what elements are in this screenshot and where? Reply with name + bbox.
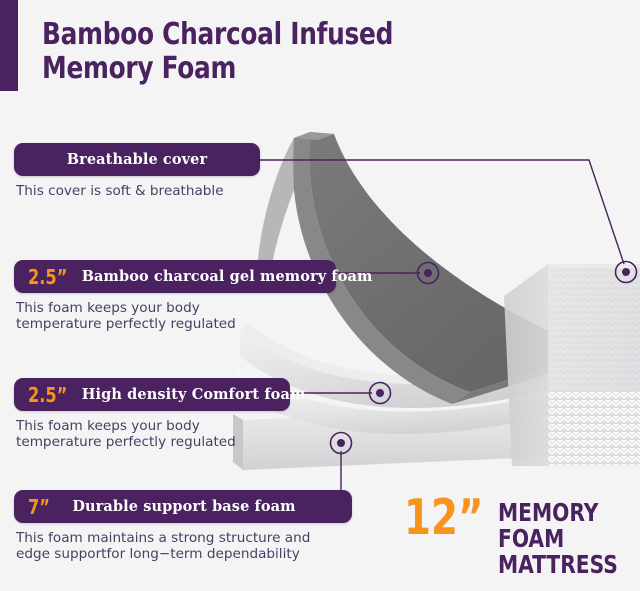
leader-line-breathable-cover [260,160,624,264]
callout-label-breathable-cover: Breathable cover [67,151,207,168]
marker-bamboo-charcoal-gel [418,263,439,284]
callout-durable-support-base: 7” Durable support base foam This foam m… [14,490,354,562]
callout-measure-durable-support-base: 7” [28,495,50,519]
callout-breathable-cover: Breathable cover This cover is soft & br… [14,143,264,199]
callout-pill-high-density-comfort[interactable]: 2.5” High density Comfort foam [14,378,290,411]
product-summary-headline: 12” MEMORY FOAM MATTRESS [404,497,640,578]
marker-high-density-comfort [370,383,391,404]
page-title: Bamboo Charcoal Infused Memory Foam [42,18,512,86]
callout-description-breathable-cover: This cover is soft & breathable [14,183,264,199]
callout-bamboo-charcoal-gel: 2.5” Bamboo charcoal gel memory foam Thi… [14,260,340,332]
product-type-label: MEMORY FOAM MATTRESS [498,497,626,578]
callout-pill-durable-support-base[interactable]: 7” Durable support base foam [14,490,352,523]
callout-high-density-comfort: 2.5” High density Comfort foam This foam… [14,378,294,450]
callout-label-bamboo-charcoal-gel: Bamboo charcoal gel memory foam [82,268,373,285]
page-title-line-1: Bamboo Charcoal Infused [42,18,474,52]
callout-description-durable-support-base: This foam maintains a strong structure a… [14,530,354,562]
mattress-cover-panel [504,264,640,466]
page-title-line-2: Memory Foam [42,52,474,86]
accent-bar [0,0,18,91]
infographic-root: Bamboo Charcoal Infused Memory Foam [0,0,640,591]
callout-measure-high-density-comfort: 2.5” [28,383,67,407]
callout-pill-breathable-cover[interactable]: Breathable cover [14,143,260,176]
callout-label-durable-support-base: Durable support base foam [62,498,295,515]
marker-durable-support-base [331,433,352,454]
product-thickness-value: 12” [404,497,483,539]
callout-measure-bamboo-charcoal-gel: 2.5” [28,265,67,289]
callout-label-high-density-comfort: High density Comfort foam [82,386,306,403]
callout-description-high-density-comfort: This foam keeps your body temperature pe… [14,418,294,450]
callout-pill-bamboo-charcoal-gel[interactable]: 2.5” Bamboo charcoal gel memory foam [14,260,336,293]
marker-breathable-cover [616,262,637,283]
callout-description-bamboo-charcoal-gel: This foam keeps your body temperature pe… [14,300,340,332]
